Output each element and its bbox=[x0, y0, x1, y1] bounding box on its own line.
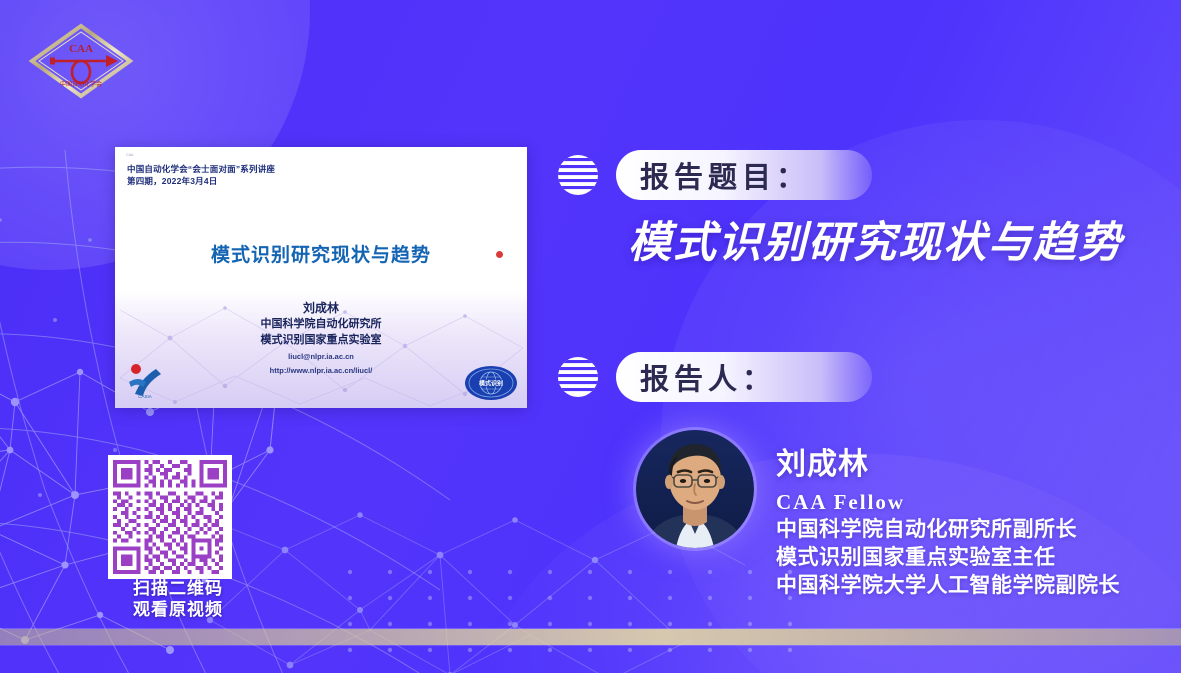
topic-pill: 报告题目： bbox=[616, 150, 872, 200]
speaker-title-0: CAA Fellow bbox=[776, 489, 1120, 517]
slide-affiliation-2: 模式识别国家重点实验室 bbox=[115, 333, 527, 349]
speaker-title-2: 模式识别国家重点实验室主任 bbox=[776, 544, 1120, 572]
caa-logo-chinese: 中国自动化学会 bbox=[60, 80, 102, 88]
speaker-pill-label: 报告人： bbox=[640, 356, 776, 398]
slide-email: liucl@nlpr.ia.ac.cn bbox=[115, 351, 527, 363]
slide-preview-thumbnail[interactable]: CAA 中国自动化学会“会士面对面”系列讲座 第四期，2022年3月4日 模式识… bbox=[115, 147, 527, 408]
casia-logo: CASIA bbox=[123, 360, 167, 400]
qr-caption-line-2: 观看原视频 bbox=[108, 599, 248, 620]
casia-logo-text: CASIA bbox=[138, 394, 152, 399]
speaker-name: 刘成林 bbox=[776, 448, 1120, 483]
slide-episode-line: 第四期，2022年3月4日 bbox=[127, 175, 275, 187]
topic-section-header: 报告题目： bbox=[556, 150, 872, 200]
speaker-title-1: 中国科学院自动化研究所副所长 bbox=[776, 516, 1120, 544]
qr-code[interactable] bbox=[108, 455, 232, 579]
nlpr-globe-logo: 模式识别 bbox=[463, 364, 519, 402]
poster-canvas: CAA 中国自动化学会 CAA 中国自动 bbox=[0, 0, 1181, 673]
speaker-portrait bbox=[636, 430, 754, 548]
gold-divider-band bbox=[0, 629, 1181, 645]
striped-sphere-icon bbox=[556, 153, 600, 197]
speaker-info: 刘成林 CAA Fellow 中国科学院自动化研究所副所长 模式识别国家重点实验… bbox=[776, 448, 1120, 599]
speaker-section-header: 报告人： bbox=[556, 352, 872, 402]
slide-series-line: 中国自动化学会“会士面对面”系列讲座 bbox=[127, 163, 275, 175]
slide-affiliation-1: 中国科学院自动化研究所 bbox=[115, 317, 527, 333]
speaker-title-3: 中国科学院大学人工智能学院副院长 bbox=[776, 572, 1120, 600]
speaker-pill: 报告人： bbox=[616, 352, 872, 402]
slide-tiny-tag: CAA bbox=[126, 153, 133, 157]
nlpr-logo-text: 模式识别 bbox=[479, 380, 503, 388]
caa-logo-initials: CAA bbox=[69, 43, 93, 55]
slide-title: 模式识别研究现状与趋势 bbox=[115, 240, 527, 267]
topic-pill-label: 报告题目： bbox=[640, 154, 810, 196]
talk-title: 模式识别研究现状与趋势 bbox=[628, 208, 1123, 270]
slide-author-name: 刘成林 bbox=[115, 299, 527, 317]
caa-logo: CAA 中国自动化学会 bbox=[28, 22, 134, 100]
qr-caption: 扫描二维码 观看原视频 bbox=[108, 578, 248, 621]
striped-sphere-icon bbox=[556, 355, 600, 399]
speaker-portrait-image bbox=[636, 430, 754, 548]
slide-header-text: 中国自动化学会“会士面对面”系列讲座 第四期，2022年3月4日 bbox=[127, 163, 275, 188]
qr-caption-line-1: 扫描二维码 bbox=[108, 578, 248, 599]
qr-code-image bbox=[113, 460, 227, 574]
slide-red-dot-marker bbox=[496, 251, 503, 258]
